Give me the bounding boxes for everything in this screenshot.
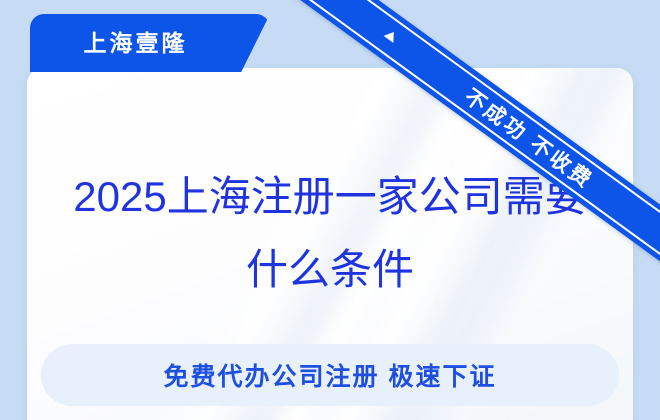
cta-label: 免费代办公司注册 极速下证 <box>164 357 497 393</box>
promo-poster: 2025上海注册一家公司需要 什么条件 免费代办公司注册 极速下证 上海壹隆 不… <box>0 0 660 420</box>
headline: 2025上海注册一家公司需要 什么条件 <box>27 160 633 306</box>
brand-tab-inner: 上海壹隆 <box>30 14 241 72</box>
brand-tab-label: 上海壹隆 <box>84 32 188 55</box>
brand-tab[interactable]: 上海壹隆 <box>30 14 270 72</box>
headline-line-2: 什么条件 <box>27 233 633 306</box>
cta-banner[interactable]: 免费代办公司注册 极速下证 <box>41 344 619 406</box>
